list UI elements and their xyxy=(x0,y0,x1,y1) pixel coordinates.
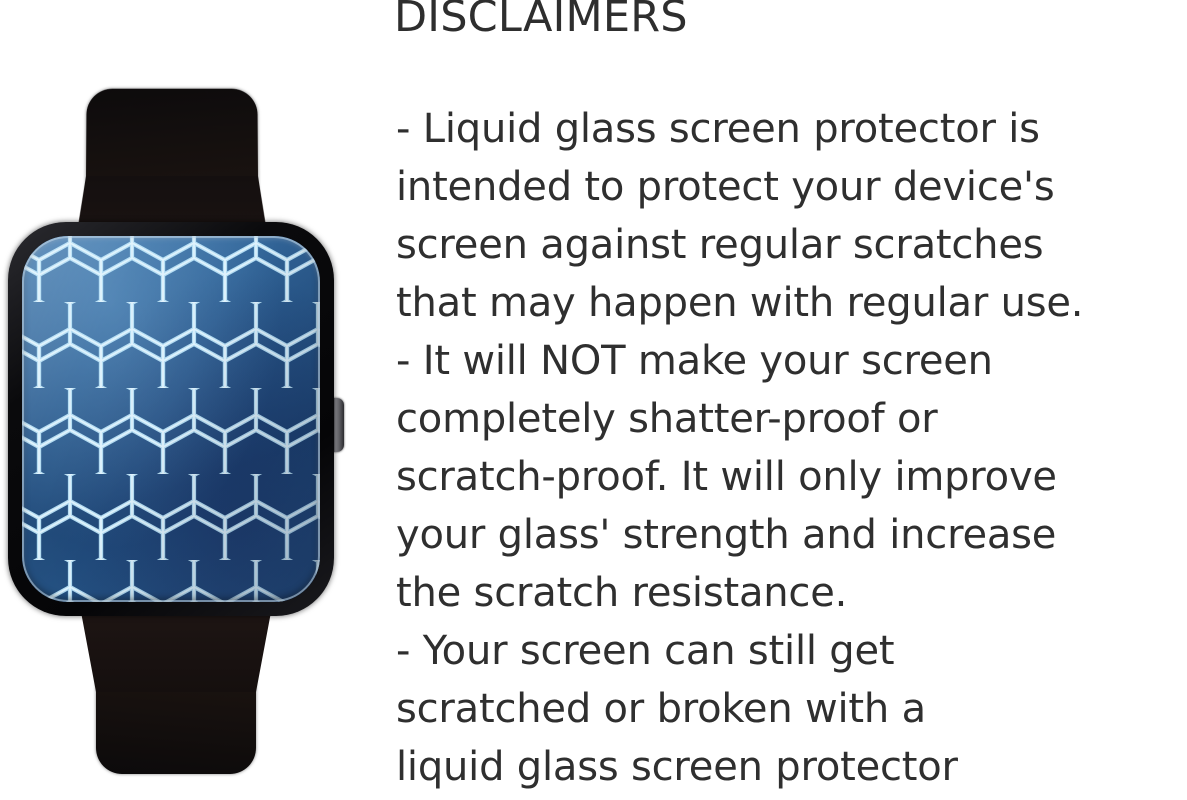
disclaimer-body: - Liquid glass screen protector is inten… xyxy=(396,100,1186,796)
watch-band-bottom xyxy=(96,596,256,774)
smartwatch-illustration xyxy=(0,0,390,800)
honeycomb-pattern-icon xyxy=(22,236,320,602)
watch-case xyxy=(8,222,334,616)
product-disclaimer-page: DISCLAIMERS - Liquid glass screen protec… xyxy=(0,0,1187,800)
product-image xyxy=(0,0,390,800)
page-title: DISCLAIMERS xyxy=(394,0,688,42)
disclaimer-text-column: DISCLAIMERS - Liquid glass screen protec… xyxy=(394,0,1187,800)
watch-screen xyxy=(22,236,320,602)
